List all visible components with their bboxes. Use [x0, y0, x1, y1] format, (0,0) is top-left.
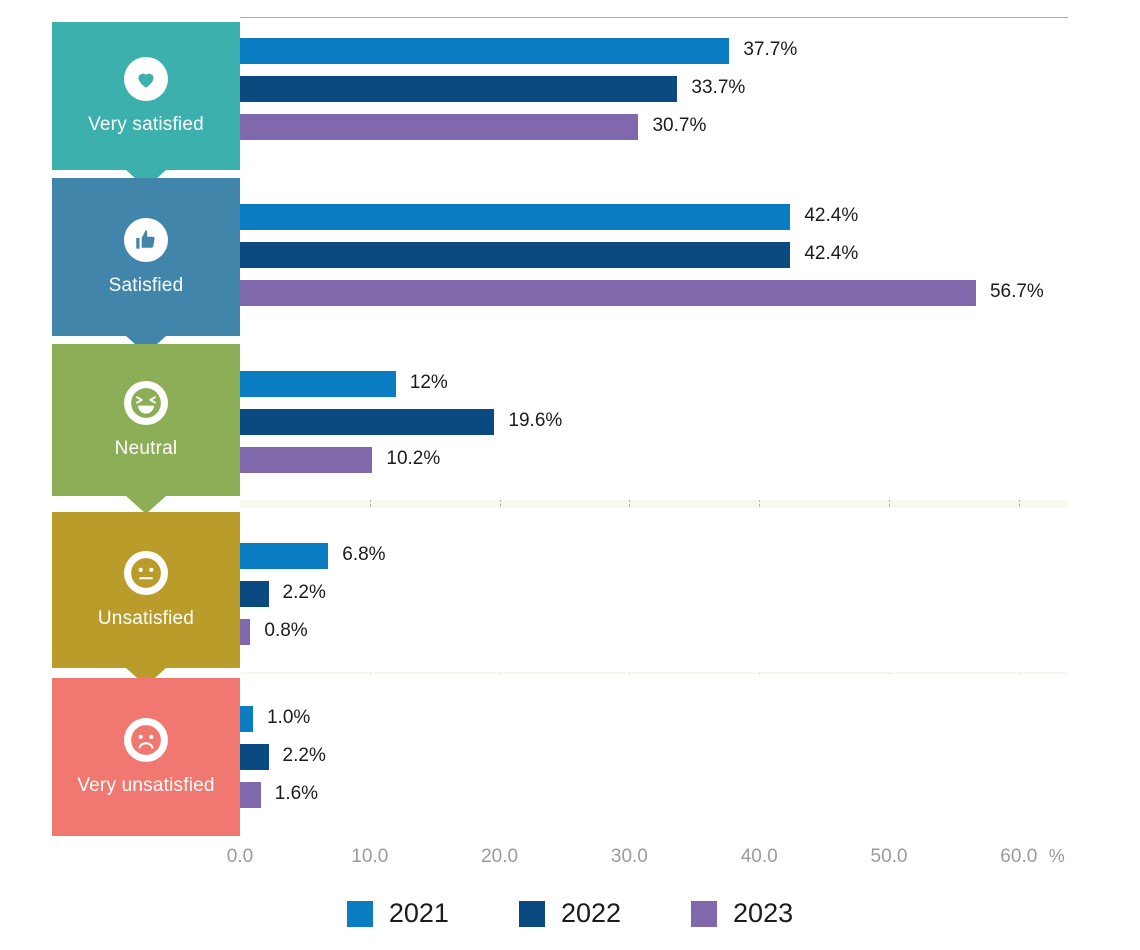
- bar-value-label: 56.7%: [990, 279, 1044, 305]
- x-tick-60.0: 60.0: [1000, 846, 1037, 868]
- category-panel-neutral[interactable]: Neutral: [52, 344, 240, 496]
- bar-value-label: 0.8%: [264, 618, 307, 644]
- bar-2023-satisfied[interactable]: [240, 280, 976, 306]
- bar-2022-satisfied[interactable]: [240, 242, 790, 268]
- bar-value-label: 37.7%: [743, 37, 797, 63]
- bar-value-label: 42.4%: [804, 203, 858, 229]
- legend-swatch-2022: [519, 901, 545, 927]
- x-axis-unit-label: %: [1049, 846, 1065, 867]
- bar-2022-neutral[interactable]: [240, 409, 494, 435]
- bar-value-label: 12%: [410, 370, 448, 396]
- sad-face-icon: [124, 718, 168, 762]
- heart-icon: [124, 57, 168, 101]
- bar-value-label: 30.7%: [652, 113, 706, 139]
- category-panel-unsatisfied[interactable]: Unsatisfied: [52, 512, 240, 668]
- category-panel-very-satisfied[interactable]: Very satisfied: [52, 22, 240, 170]
- chart-legend: 202120222023: [0, 898, 1140, 929]
- category-panel-satisfied[interactable]: Satisfied: [52, 178, 240, 336]
- legend-label: 2021: [389, 898, 449, 929]
- legend-label: 2023: [733, 898, 793, 929]
- bar-value-label: 1.0%: [267, 705, 310, 731]
- bar-2021-very-satisfied[interactable]: [240, 38, 729, 64]
- bar-2021-very-unsatisfied[interactable]: [240, 706, 253, 732]
- bar-value-label: 2.2%: [283, 580, 326, 606]
- bar-2022-very-unsatisfied[interactable]: [240, 744, 269, 770]
- x-tick-20.0: 20.0: [481, 846, 518, 868]
- bar-value-label: 10.2%: [386, 446, 440, 472]
- row-background-unsatisfied: [240, 508, 1068, 672]
- legend-item-2021[interactable]: 2021: [347, 898, 449, 929]
- bar-2021-satisfied[interactable]: [240, 204, 790, 230]
- bar-2022-unsatisfied[interactable]: [240, 581, 269, 607]
- x-tick-30.0: 30.0: [611, 846, 648, 868]
- row-background-very-unsatisfied: [240, 674, 1068, 840]
- legend-label: 2022: [561, 898, 621, 929]
- bar-2022-very-satisfied[interactable]: [240, 76, 677, 102]
- category-label: Very unsatisfied: [77, 776, 214, 797]
- bar-value-label: 6.8%: [342, 542, 385, 568]
- bar-2023-unsatisfied[interactable]: [240, 619, 250, 645]
- bar-value-label: 33.7%: [691, 75, 745, 101]
- x-tick-40.0: 40.0: [741, 846, 778, 868]
- laughing-face-icon: [124, 381, 168, 425]
- bar-value-label: 42.4%: [804, 241, 858, 267]
- bar-2023-very-satisfied[interactable]: [240, 114, 638, 140]
- bar-value-label: 2.2%: [283, 743, 326, 769]
- x-tick-0.0: 0.0: [227, 846, 253, 868]
- bar-2023-neutral[interactable]: [240, 447, 372, 473]
- category-label: Unsatisfied: [98, 609, 194, 630]
- category-label: Very satisfied: [88, 115, 204, 136]
- neutral-face-icon: [124, 551, 168, 595]
- bar-2021-neutral[interactable]: [240, 371, 396, 397]
- bar-2021-unsatisfied[interactable]: [240, 543, 328, 569]
- legend-item-2022[interactable]: 2022: [519, 898, 621, 929]
- bar-2023-very-unsatisfied[interactable]: [240, 782, 261, 808]
- bar-value-label: 19.6%: [508, 408, 562, 434]
- category-panel-very-unsatisfied[interactable]: Very unsatisfied: [52, 678, 240, 836]
- legend-item-2023[interactable]: 2023: [691, 898, 793, 929]
- thumbs-up-icon: [124, 218, 168, 262]
- category-label: Satisfied: [109, 276, 184, 297]
- x-tick-50.0: 50.0: [871, 846, 908, 868]
- legend-swatch-2023: [691, 901, 717, 927]
- bar-value-label: 1.6%: [275, 781, 318, 807]
- legend-swatch-2021: [347, 901, 373, 927]
- x-tick-10.0: 10.0: [351, 846, 388, 868]
- category-label: Neutral: [115, 439, 178, 460]
